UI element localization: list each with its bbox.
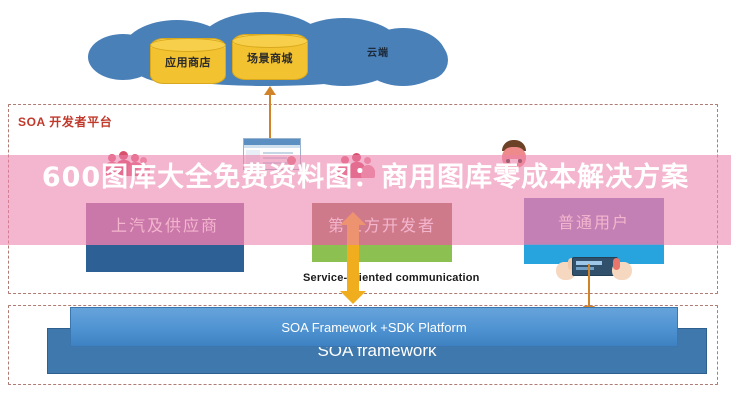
cloud-node-label: 应用商店 [151, 54, 225, 70]
cloud-node-scene-mall[interactable]: 场景商城 [232, 34, 308, 80]
cloud-node-label: 场景商城 [233, 50, 307, 66]
tablet-screen-icon [572, 257, 618, 276]
browser-window-icon [243, 138, 301, 170]
tablet-in-hands-icon [556, 255, 632, 281]
cylinder-top-icon [150, 38, 226, 52]
arrow-bidirectional-developer-framework [340, 212, 366, 304]
framework-bar-soa-sdk-platform[interactable]: SOA Framework +SDK Platform [70, 307, 678, 347]
role-box-regular-users[interactable]: 普通用户 [524, 198, 664, 244]
cloud-label: 云端 [367, 44, 389, 59]
people-group-icon-saic [104, 150, 150, 176]
role-box-third-party-developers[interactable]: 第三方开发者 [312, 203, 452, 245]
role-bar-saic-suppliers [86, 245, 244, 272]
cloud-node-app-store[interactable]: 应用商店 [150, 38, 226, 84]
annotation-service-oriented-communication: Service-oriented communication [303, 272, 480, 284]
people-group-icon-developer [336, 152, 382, 178]
panel-title-soa-developer-platform: SOA 开发者平台 [18, 113, 112, 130]
cylinder-top-icon [232, 34, 308, 48]
window-toolbar-icon [244, 145, 300, 148]
window-accent-dot-icon [287, 156, 296, 165]
role-bar-third-party-developers [312, 245, 452, 262]
user-avatar-icon [495, 140, 533, 186]
diagram-canvas: 应用商店 场景商城 云端 SOA 开发者平台 [0, 0, 731, 400]
role-box-saic-suppliers[interactable]: 上汽及供应商 [86, 203, 244, 245]
window-sidebar-icon [246, 150, 260, 167]
